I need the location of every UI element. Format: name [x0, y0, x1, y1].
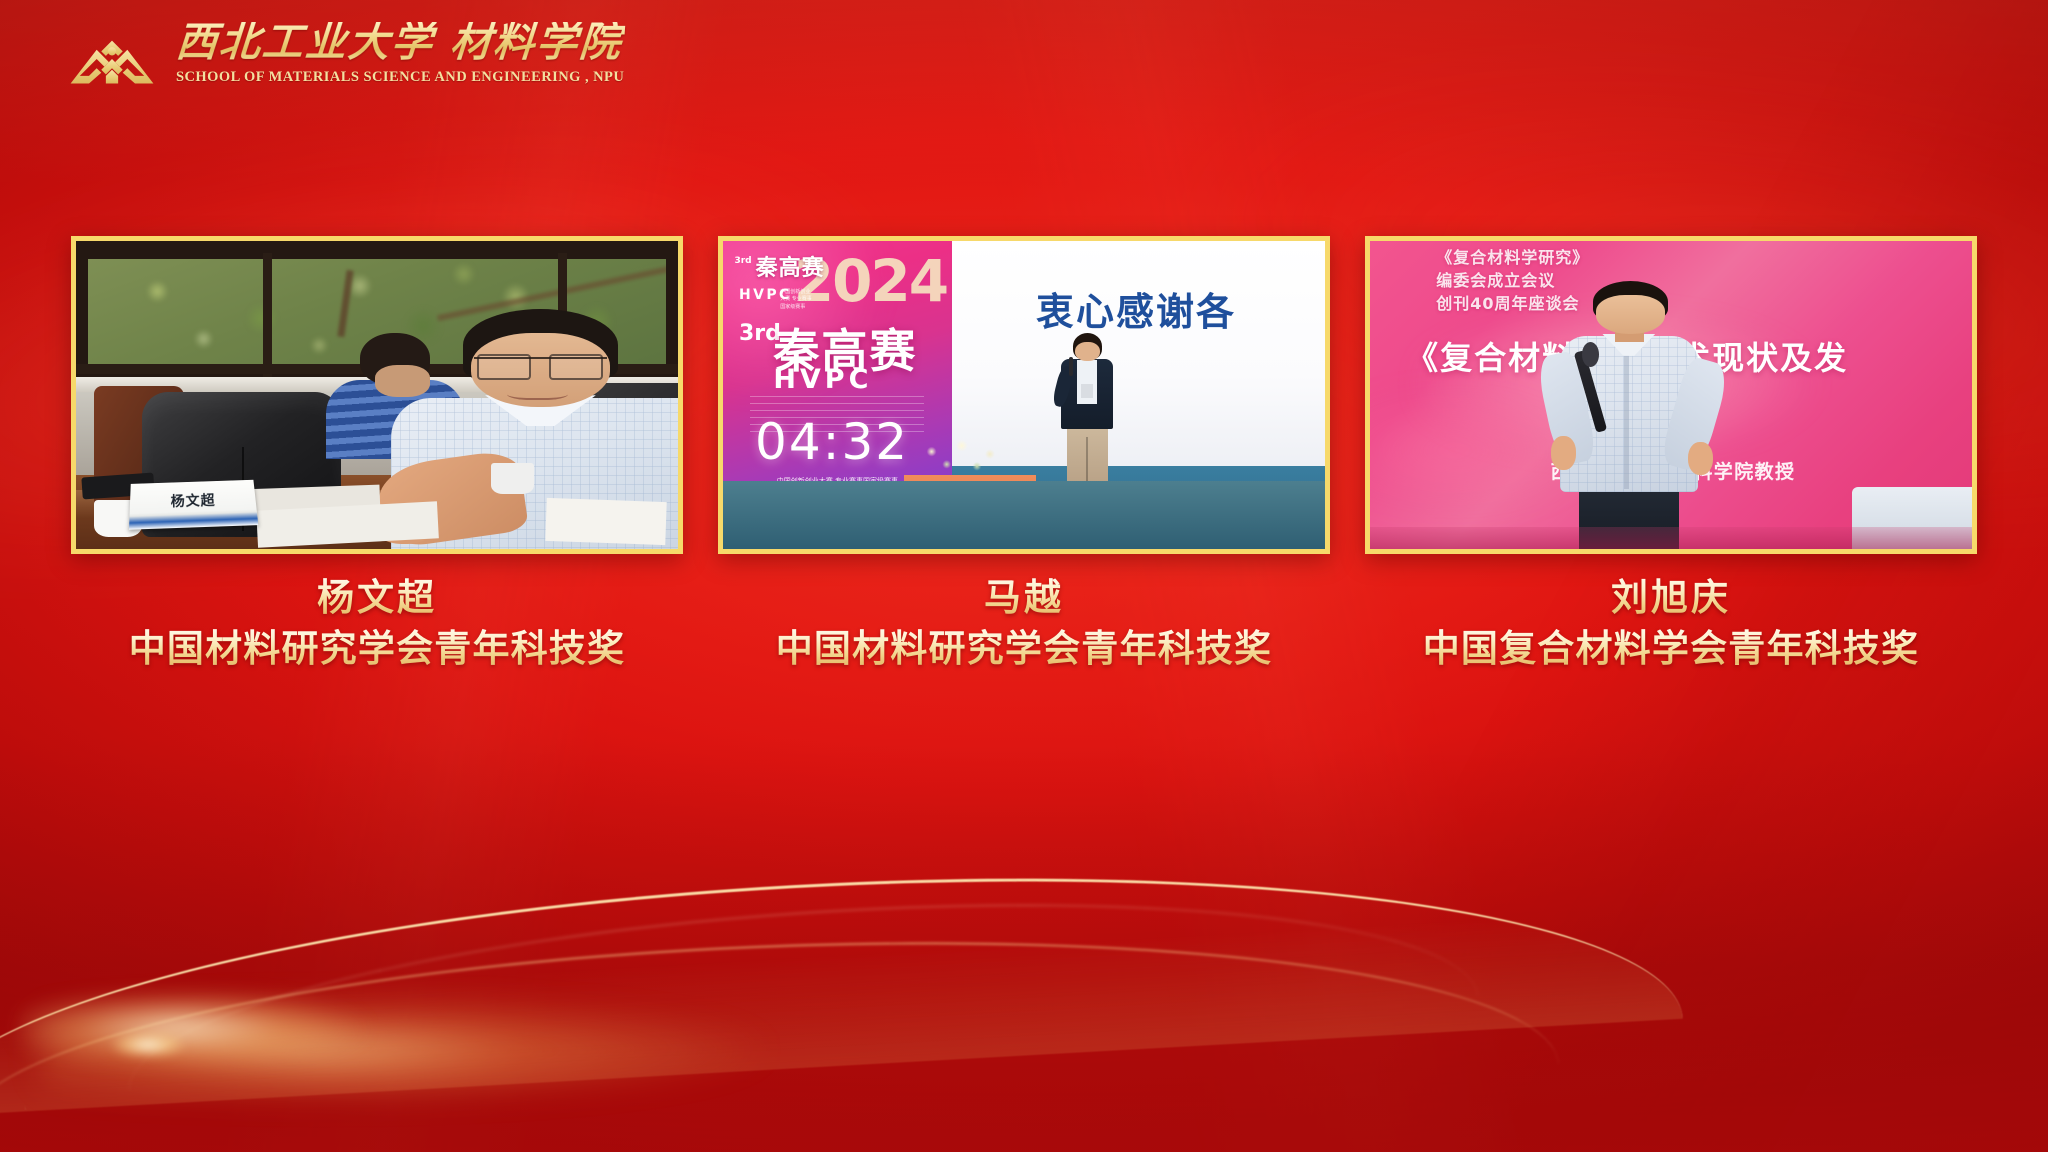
brand-wordmark: 西北工业大学 材料学院 SCHOOL OF MATERIALS SCIENCE …: [176, 22, 624, 86]
banner-line-1: 《复合材料学研究》: [1436, 247, 1713, 270]
awardee-name: 杨文超: [129, 576, 626, 620]
projection-screen-text: 衷心感谢各: [1036, 281, 1236, 336]
awardee-photo-frame[interactable]: 《复合材料学研究》 编委会成立会议 创刊40周年座谈会 《复合材料领域技术现状及…: [1365, 236, 1977, 554]
brand-header: 西北工业大学 材料学院 SCHOOL OF MATERIALS SCIENCE …: [66, 22, 624, 90]
awardee-name: 马越: [776, 576, 1273, 620]
poster-abbr: HVPC: [773, 364, 872, 395]
awardee-name: 刘旭庆: [1423, 576, 1920, 620]
university-title-en: SCHOOL OF MATERIALS SCIENCE AND ENGINEER…: [176, 69, 624, 86]
awardee-caption: 杨文超 中国材料研究学会青年科技奖: [129, 576, 626, 670]
awardee-award: 中国材料研究学会青年科技奖: [129, 627, 626, 671]
background-bottom-shade: [0, 737, 2048, 1152]
awardee-card: 《复合材料学研究》 编委会成立会议 创刊40周年座谈会 《复合材料领域技术现状及…: [1365, 236, 1977, 670]
poster-fineprint: 中国创新创业大赛 专业赛事国家级赛事: [780, 289, 812, 312]
awardee-card-row: 杨文超 杨文超 中国材料研究学会青年科技奖 衷心感谢各 2024: [0, 236, 2048, 556]
poster-top-title: 秦高赛: [756, 250, 825, 282]
desk-nameplate: 杨文超: [129, 480, 259, 530]
awardee-caption: 刘旭庆 中国复合材料学会青年科技奖: [1423, 576, 1920, 670]
desk-nameplate-text: 杨文超: [171, 490, 216, 511]
awardee-caption: 马越 中国材料研究学会青年科技奖: [776, 576, 1273, 670]
decorative-light-ribbon: [0, 772, 2048, 1152]
awardee-card: 杨文超 杨文超 中国材料研究学会青年科技奖: [71, 236, 683, 670]
awardee-award: 中国复合材料学会青年科技奖: [1423, 627, 1920, 671]
awardee-photo-frame[interactable]: 杨文超: [71, 236, 683, 554]
awardee-award: 中国材料研究学会青年科技奖: [776, 627, 1273, 671]
awardee-card: 衷心感谢各 2024 3rd 秦高赛 HVPC 中国创新创业大赛 专业赛事国家级…: [718, 236, 1330, 670]
speaker-figure: [1551, 281, 1708, 549]
university-title-cn: 西北工业大学 材料学院: [175, 22, 626, 64]
poster-top-edition: 3rd: [734, 256, 751, 266]
awardee-photo-competition-stage: 衷心感谢各 2024 3rd 秦高赛 HVPC 中国创新创业大赛 专业赛事国家级…: [723, 241, 1325, 549]
slide-canvas: 西北工业大学 材料学院 SCHOOL OF MATERIALS SCIENCE …: [0, 0, 2048, 1152]
awardee-photo-lecture: 《复合材料学研究》 编委会成立会议 创刊40周年座谈会 《复合材料领域技术现状及…: [1370, 241, 1972, 549]
awardee-photo-meeting-room: 杨文超: [76, 241, 678, 549]
awardee-photo-frame[interactable]: 衷心感谢各 2024 3rd 秦高赛 HVPC 中国创新创业大赛 专业赛事国家级…: [718, 236, 1330, 554]
npu-mountain-logo-icon: [66, 28, 158, 90]
